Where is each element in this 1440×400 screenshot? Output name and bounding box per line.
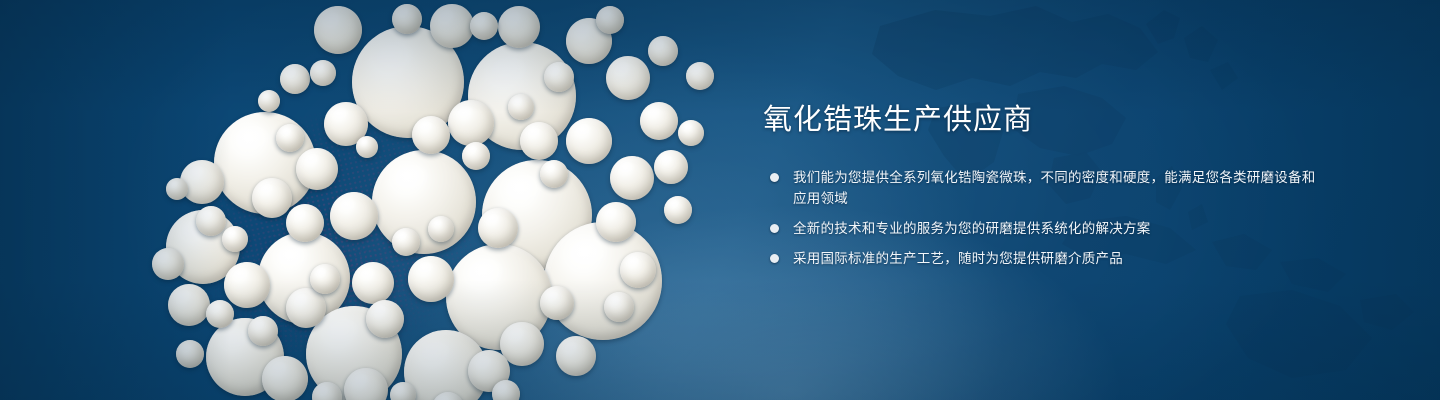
banner-content: 氧化锆珠生产供应商 我们能为您提供全系列氧化锆陶瓷微珠，不同的密度和硬度，能满足… bbox=[763, 104, 1323, 269]
feature-list-item-text: 我们能为您提供全系列氧化锆陶瓷微珠，不同的密度和硬度，能满足您各类研磨设备和应用… bbox=[793, 170, 1316, 206]
feature-list-item: 采用国际标准的生产工艺，随时为您提供研磨介质产品 bbox=[763, 248, 1323, 269]
feature-list: 我们能为您提供全系列氧化锆陶瓷微珠，不同的密度和硬度，能满足您各类研磨设备和应用… bbox=[763, 167, 1323, 269]
feature-list-item-text: 全新的技术和专业的服务为您的研磨提供系统化的解决方案 bbox=[793, 221, 1151, 236]
hero-banner: 氧化锆珠生产供应商 我们能为您提供全系列氧化锆陶瓷微珠，不同的密度和硬度，能满足… bbox=[0, 0, 1440, 400]
banner-headline: 氧化锆珠生产供应商 bbox=[763, 104, 1323, 137]
bullet-dot-icon bbox=[770, 254, 779, 263]
feature-list-item: 全新的技术和专业的服务为您的研磨提供系统化的解决方案 bbox=[763, 218, 1323, 239]
bullet-dot-icon bbox=[770, 224, 779, 233]
feature-list-item: 我们能为您提供全系列氧化锆陶瓷微珠，不同的密度和硬度，能满足您各类研磨设备和应用… bbox=[763, 167, 1323, 209]
feature-list-item-text: 采用国际标准的生产工艺，随时为您提供研磨介质产品 bbox=[793, 251, 1123, 266]
bullet-dot-icon bbox=[770, 173, 779, 182]
